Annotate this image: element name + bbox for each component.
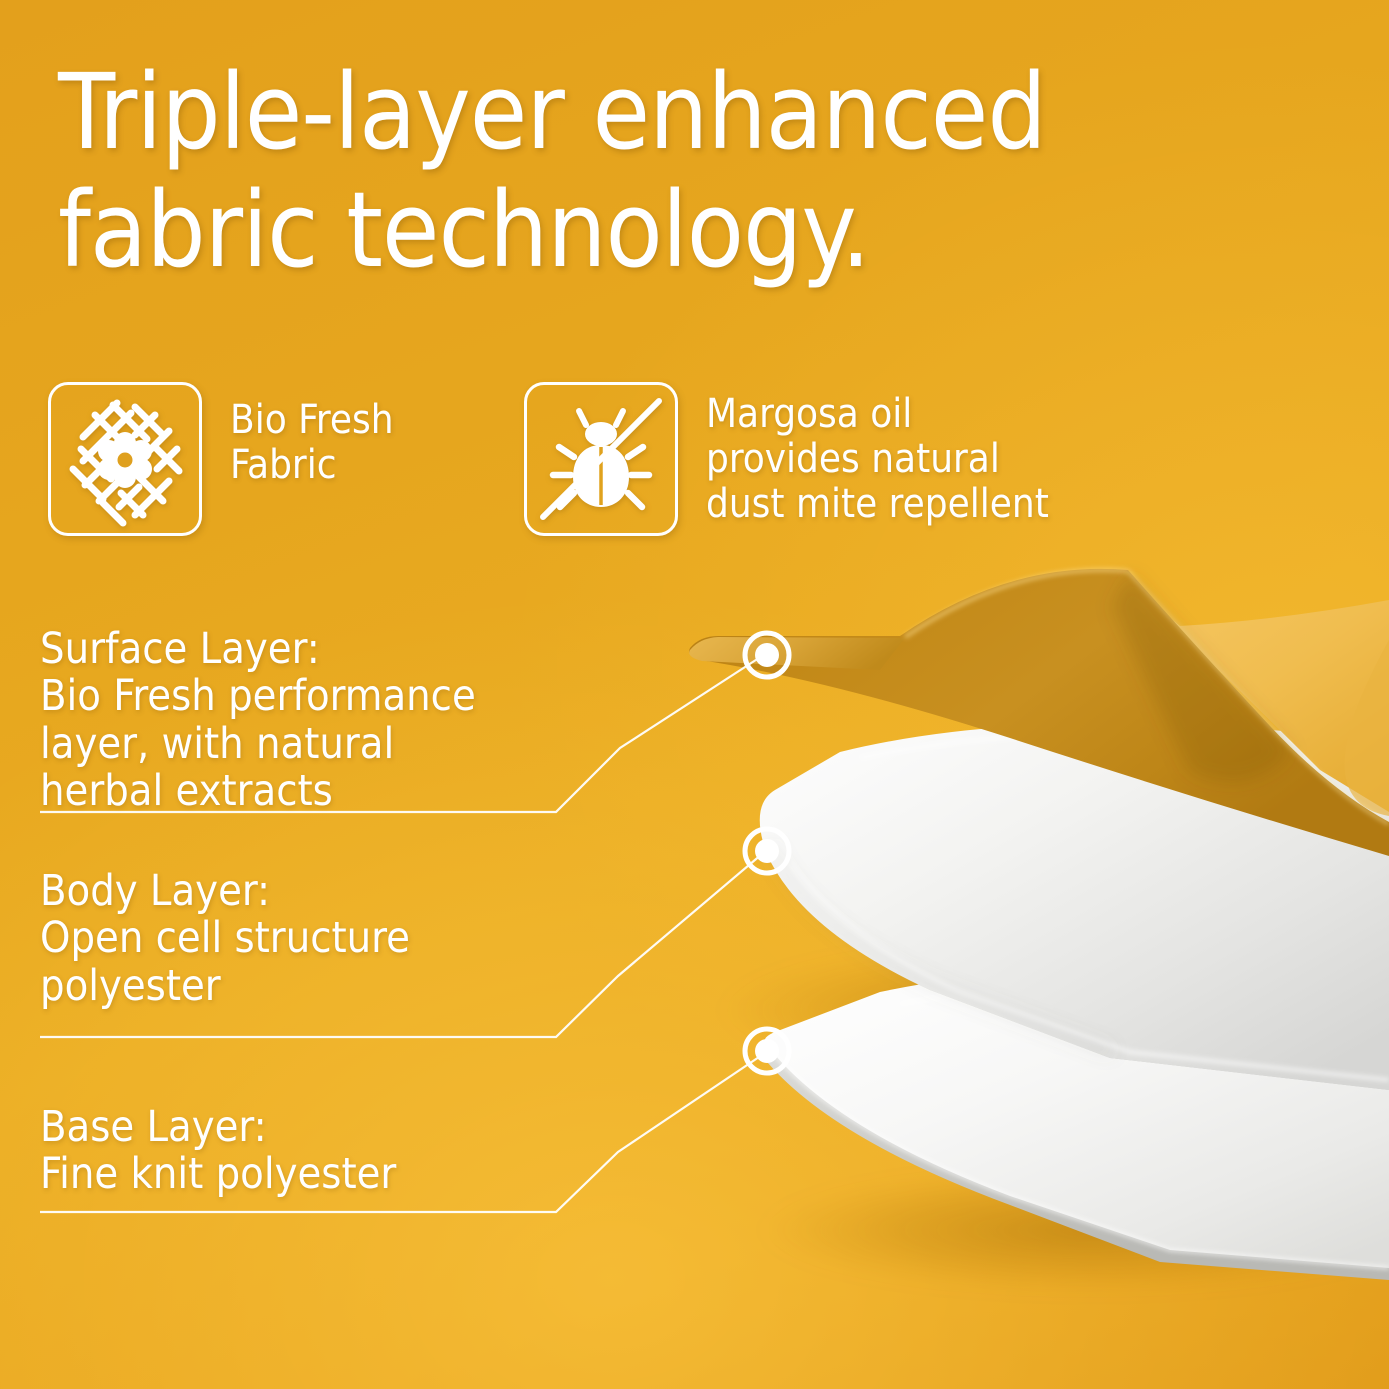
- no-bug-icon: [527, 385, 675, 533]
- feature-bio-fresh-fabric: Bio Fresh Fabric: [48, 382, 394, 536]
- callout-surface-layer: Surface Layer: Bio Fresh performance lay…: [40, 626, 720, 815]
- callout-title: Surface Layer:: [40, 626, 720, 673]
- feature-label: Margosa oil provides natural dust mite r…: [706, 382, 1049, 526]
- callout-body-layer: Body Layer: Open cell structure polyeste…: [40, 868, 720, 1010]
- callout-description: Bio Fresh performance layer, with natura…: [40, 673, 720, 815]
- no-bug-badge-box: [524, 382, 678, 536]
- feature-margosa-oil: Margosa oil provides natural dust mite r…: [524, 382, 1049, 536]
- callout-description: Fine knit polyester: [40, 1151, 720, 1198]
- page-title: Triple-layer enhanced fabric technology.: [58, 54, 1348, 289]
- infographic-canvas: Triple-layer enhanced fabric technology.: [0, 0, 1389, 1389]
- callout-title: Base Layer:: [40, 1104, 720, 1151]
- callout-description: Open cell structure polyester: [40, 915, 720, 1010]
- woven-fabric-flower-icon: [51, 385, 199, 533]
- callout-title: Body Layer:: [40, 868, 720, 915]
- callout-base-layer: Base Layer: Fine knit polyester: [40, 1104, 720, 1199]
- bio-fresh-badge-box: [48, 382, 202, 536]
- feature-label: Bio Fresh Fabric: [230, 382, 394, 488]
